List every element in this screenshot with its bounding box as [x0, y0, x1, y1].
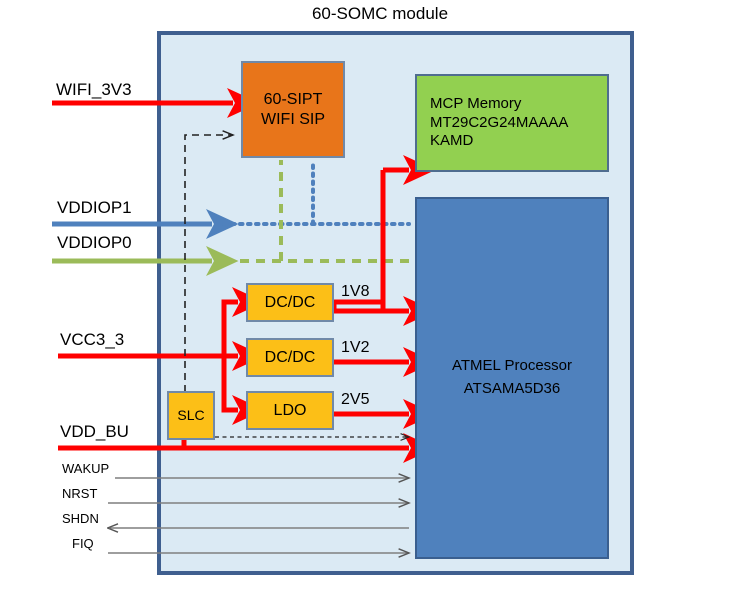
signal-label-fiq: FIQ [72, 536, 94, 551]
wifi-sip-line2: WIFI SIP [261, 110, 325, 130]
block-dcdc-1v8[interactable]: DC/DC [246, 283, 334, 322]
signal-label-wakup: WAKUP [62, 461, 109, 476]
processor-line2: ATSAMA5D36 [464, 380, 560, 399]
signal-label-shdn: SHDN [62, 511, 99, 526]
rail-label-wifi-3v3: WIFI_3V3 [56, 80, 132, 100]
rail-label-vddiop1: VDDIOP1 [57, 198, 132, 218]
block-mcp-memory[interactable]: MCP Memory MT29C2G24MAAAA KAMD [415, 74, 609, 172]
output-label-2v5: 2V5 [341, 391, 369, 409]
dcdc1-label: DC/DC [265, 293, 316, 313]
processor-line1: ATMEL Processor [452, 357, 572, 376]
wifi-sip-line1: 60-SIPT [264, 90, 323, 110]
memory-line3: KAMD [430, 132, 473, 151]
rail-label-vdd-bu: VDD_BU [60, 422, 129, 442]
rail-label-vddiop0: VDDIOP0 [57, 233, 132, 253]
block-dcdc-1v2[interactable]: DC/DC [246, 338, 334, 377]
block-wifi-sip[interactable]: 60-SIPT WIFI SIP [241, 61, 345, 158]
memory-line1: MCP Memory [430, 95, 521, 114]
block-atmel-processor[interactable]: ATMEL Processor ATSAMA5D36 [415, 197, 609, 559]
diagram-canvas: 60-SOMC module [0, 0, 729, 591]
block-slc[interactable]: SLC [167, 391, 215, 440]
output-label-1v2: 1V2 [341, 339, 369, 357]
slc-label: SLC [177, 407, 204, 425]
rail-label-vcc3-3: VCC3_3 [60, 330, 124, 350]
dcdc2-label: DC/DC [265, 348, 316, 368]
ldo-label: LDO [274, 401, 307, 421]
signal-label-nrst: NRST [62, 486, 97, 501]
block-ldo-2v5[interactable]: LDO [246, 391, 334, 430]
memory-line2: MT29C2G24MAAAA [430, 114, 568, 133]
output-label-1v8: 1V8 [341, 283, 369, 301]
